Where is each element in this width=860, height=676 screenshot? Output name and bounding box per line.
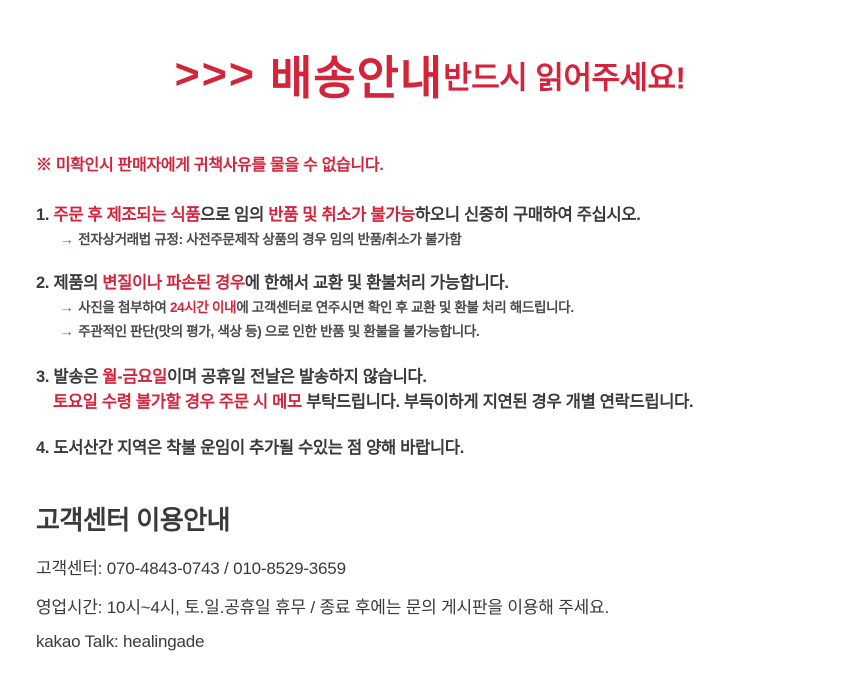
arrows-decoration: >>> (175, 51, 256, 99)
delivery-notice-page: >>>배송안내반드시 읽어주세요! ※ 미확인시 판매자에게 귀책사유를 물을 … (0, 0, 860, 676)
list-item-secondary-line: 토요일 수령 불가할 경우 주문 시 메모 부탁드립니다. 부득이하게 지연된 … (53, 390, 860, 416)
list-item-sub-text: 24시간 이내 (170, 300, 236, 315)
list-item-text: 도서산간 지역은 착불 운임이 추가될 수있는 점 양해 바랍니다. (53, 439, 464, 457)
list-item-main: 1. 주문 후 제조되는 식품으로 임의 반품 및 취소가 불가능하오니 신중히… (36, 203, 860, 228)
customer-center-title: 고객센터 이용안내 (36, 500, 860, 537)
list-item-number: 2. (36, 274, 49, 292)
list-item-text: 이며 공휴일 전날은 발송하지 않습니다. (167, 368, 427, 386)
list-item: 4. 도서산간 지역은 착불 운임이 추가될 수있는 점 양해 바랍니다. (36, 436, 860, 461)
list-item-sub-text: 에 고객센터로 연주시면 확인 후 교환 및 환불 처리 해드립니다. (236, 300, 574, 315)
list-item-text: 발송은 (53, 368, 102, 386)
customer-center-section: 고객센터 이용안내 고객센터: 070-4843-0743 / 010-8529… (36, 500, 860, 652)
notice-line: ※ 미확인시 판매자에게 귀책사유를 물을 수 없습니다. (36, 151, 860, 175)
list-item-main: 4. 도서산간 지역은 착불 운임이 추가될 수있는 점 양해 바랍니다. (36, 436, 860, 461)
customer-center-kakao: kakao Talk: healingade (36, 632, 860, 652)
notice-list: 1. 주문 후 제조되는 식품으로 임의 반품 및 취소가 불가능하오니 신중히… (36, 203, 860, 460)
list-item-sub-text: 전자상거래법 규정: 사전주문제작 상품의 경우 임의 반품/취소가 불가함 (78, 232, 461, 247)
list-item-sub: →사진을 첨부하여 24시간 이내에 고객센터로 연주시면 확인 후 교환 및 … (60, 296, 860, 320)
list-item-sub: →전자상거래법 규정: 사전주문제작 상품의 경우 임의 반품/취소가 불가함 (60, 228, 860, 252)
list-item-text: 제품의 (53, 274, 102, 292)
list-item-text: 토요일 수령 불가할 경우 주문 시 메모 (53, 393, 302, 411)
list-item: 1. 주문 후 제조되는 식품으로 임의 반품 및 취소가 불가능하오니 신중히… (36, 203, 860, 251)
arrow-icon: → (60, 324, 73, 339)
list-item-text: 부탁드립니다. 부득이하게 지연된 경우 개별 연락드립니다. (302, 393, 693, 411)
list-item-number: 1. (36, 206, 49, 224)
arrow-icon: → (60, 300, 73, 315)
list-item-text: 에 한해서 교환 및 환불처리 가능합니다. (245, 274, 509, 292)
customer-center-hours: 영업시간: 10시~4시, 토.일.공휴일 휴무 / 종료 후에는 문의 게시판… (36, 593, 860, 618)
list-item: 3. 발송은 월-금요일이며 공휴일 전날은 발송하지 않습니다. 토요일 수령… (36, 365, 860, 415)
list-item-main: 3. 발송은 월-금요일이며 공휴일 전날은 발송하지 않습니다. (36, 365, 860, 390)
list-item-text: 변질이나 파손된 경우 (102, 274, 245, 292)
page-title: 배송안내 (270, 52, 443, 104)
list-item-text: 주문 후 제조되는 식품 (53, 206, 200, 224)
list-item-number: 3. (36, 368, 49, 386)
customer-center-phone: 고객센터: 070-4843-0743 / 010-8529-3659 (36, 554, 860, 579)
page-header: >>>배송안내반드시 읽어주세요! (0, 0, 860, 108)
page-subtitle: 반드시 읽어주세요! (443, 61, 685, 96)
list-item-text: 하오니 신중히 구매하여 주십시오. (415, 206, 640, 224)
list-item-sub-text: 주관적인 판단(맛의 평가, 색상 등) 으로 인한 반품 및 환불을 불가능합… (78, 324, 479, 339)
arrow-icon: → (60, 232, 73, 247)
list-item-text: 으로 임의 (200, 206, 268, 224)
list-item-text: 반품 및 취소가 불가능 (268, 206, 415, 224)
list-item-sub-text: 사진을 첨부하여 (78, 300, 170, 315)
list-item-text: 월-금요일 (102, 368, 167, 386)
list-item-main: 2. 제품의 변질이나 파손된 경우에 한해서 교환 및 환불처리 가능합니다. (36, 271, 860, 296)
list-item-sub: →주관적인 판단(맛의 평가, 색상 등) 으로 인한 반품 및 환불을 불가능… (60, 320, 860, 344)
list-item-number: 4. (36, 439, 49, 457)
list-item: 2. 제품의 변질이나 파손된 경우에 한해서 교환 및 환불처리 가능합니다.… (36, 271, 860, 343)
